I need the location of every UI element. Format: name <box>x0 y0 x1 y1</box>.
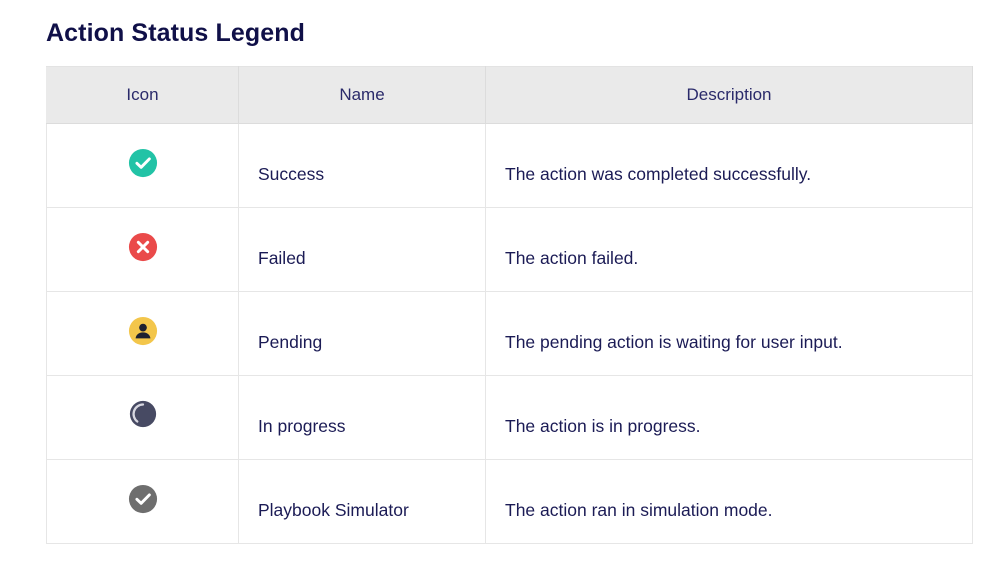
action-status-legend-table: Icon Name Description SuccessThe action … <box>46 66 973 544</box>
cell-status-name: Failed <box>239 208 486 292</box>
cell-status-name: Playbook Simulator <box>239 460 486 544</box>
cell-icon <box>47 460 239 544</box>
cell-status-description: The action ran in simulation mode. <box>486 460 973 544</box>
cell-status-name: Success <box>239 124 486 208</box>
table-row: FailedThe action failed. <box>47 208 973 292</box>
playbook-simulator-check-icon <box>128 484 158 514</box>
cell-icon <box>47 124 239 208</box>
column-header-description: Description <box>486 67 973 124</box>
cell-icon <box>47 376 239 460</box>
page-title: Action Status Legend <box>46 18 305 48</box>
action-status-legend-page: Action Status Legend Icon Name Descripti… <box>0 0 999 580</box>
success-check-icon <box>128 148 158 178</box>
table-row: In progressThe action is in progress. <box>47 376 973 460</box>
cell-status-name: In progress <box>239 376 486 460</box>
cell-status-description: The action was completed successfully. <box>486 124 973 208</box>
cell-status-name: Pending <box>239 292 486 376</box>
column-header-icon: Icon <box>47 67 239 124</box>
cell-icon <box>47 292 239 376</box>
cell-icon <box>47 208 239 292</box>
failed-x-icon <box>128 232 158 262</box>
cell-status-description: The action failed. <box>486 208 973 292</box>
in-progress-spinner-icon <box>129 400 157 428</box>
cell-status-description: The action is in progress. <box>486 376 973 460</box>
table-row: PendingThe pending action is waiting for… <box>47 292 973 376</box>
table-row: SuccessThe action was completed successf… <box>47 124 973 208</box>
pending-user-icon <box>128 316 158 346</box>
column-header-name: Name <box>239 67 486 124</box>
cell-status-description: The pending action is waiting for user i… <box>486 292 973 376</box>
table-header-row: Icon Name Description <box>47 67 973 124</box>
table-row: Playbook SimulatorThe action ran in simu… <box>47 460 973 544</box>
table-header: Icon Name Description <box>47 67 973 124</box>
table-body: SuccessThe action was completed successf… <box>47 124 973 544</box>
